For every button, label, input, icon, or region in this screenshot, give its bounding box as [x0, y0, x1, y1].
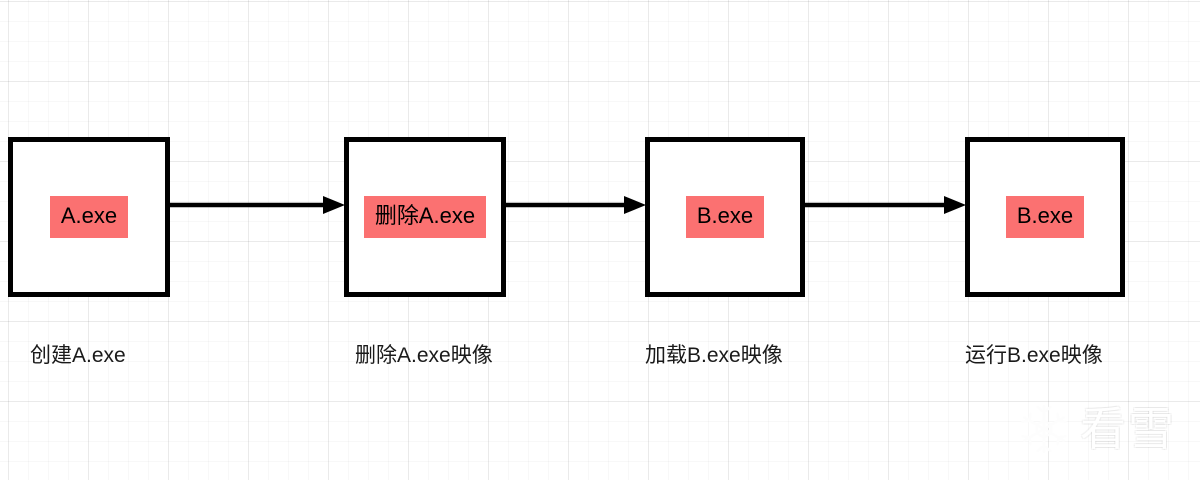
step-caption-1: 创建A.exe — [30, 345, 126, 366]
flow-arrow-2 — [506, 192, 646, 218]
step-caption-4: 运行B.exe映像 — [965, 345, 1103, 366]
process-box-1[interactable]: A.exe — [8, 137, 170, 297]
step-caption-3: 加载B.exe映像 — [645, 345, 783, 366]
process-box-4[interactable]: B.exe — [965, 137, 1125, 297]
process-chip-3: B.exe — [686, 196, 764, 238]
process-box-3[interactable]: B.exe — [645, 137, 805, 297]
step-caption-2: 删除A.exe映像 — [355, 345, 493, 366]
watermark-text: 看雪 — [1080, 406, 1176, 452]
process-box-2[interactable]: 删除A.exe — [344, 137, 506, 297]
flow-arrow-1 — [170, 192, 345, 218]
process-chip-1: A.exe — [50, 196, 128, 238]
watermark: 看雪 — [1018, 403, 1176, 455]
process-chip-2: 删除A.exe — [364, 196, 486, 238]
process-chip-4: B.exe — [1006, 196, 1084, 238]
flow-arrow-3 — [805, 192, 966, 218]
snowflake-icon — [1018, 403, 1070, 455]
diagram-canvas: A.exe 创建A.exe 删除A.exe 删除A.exe映像 B.exe 加载… — [0, 0, 1200, 480]
